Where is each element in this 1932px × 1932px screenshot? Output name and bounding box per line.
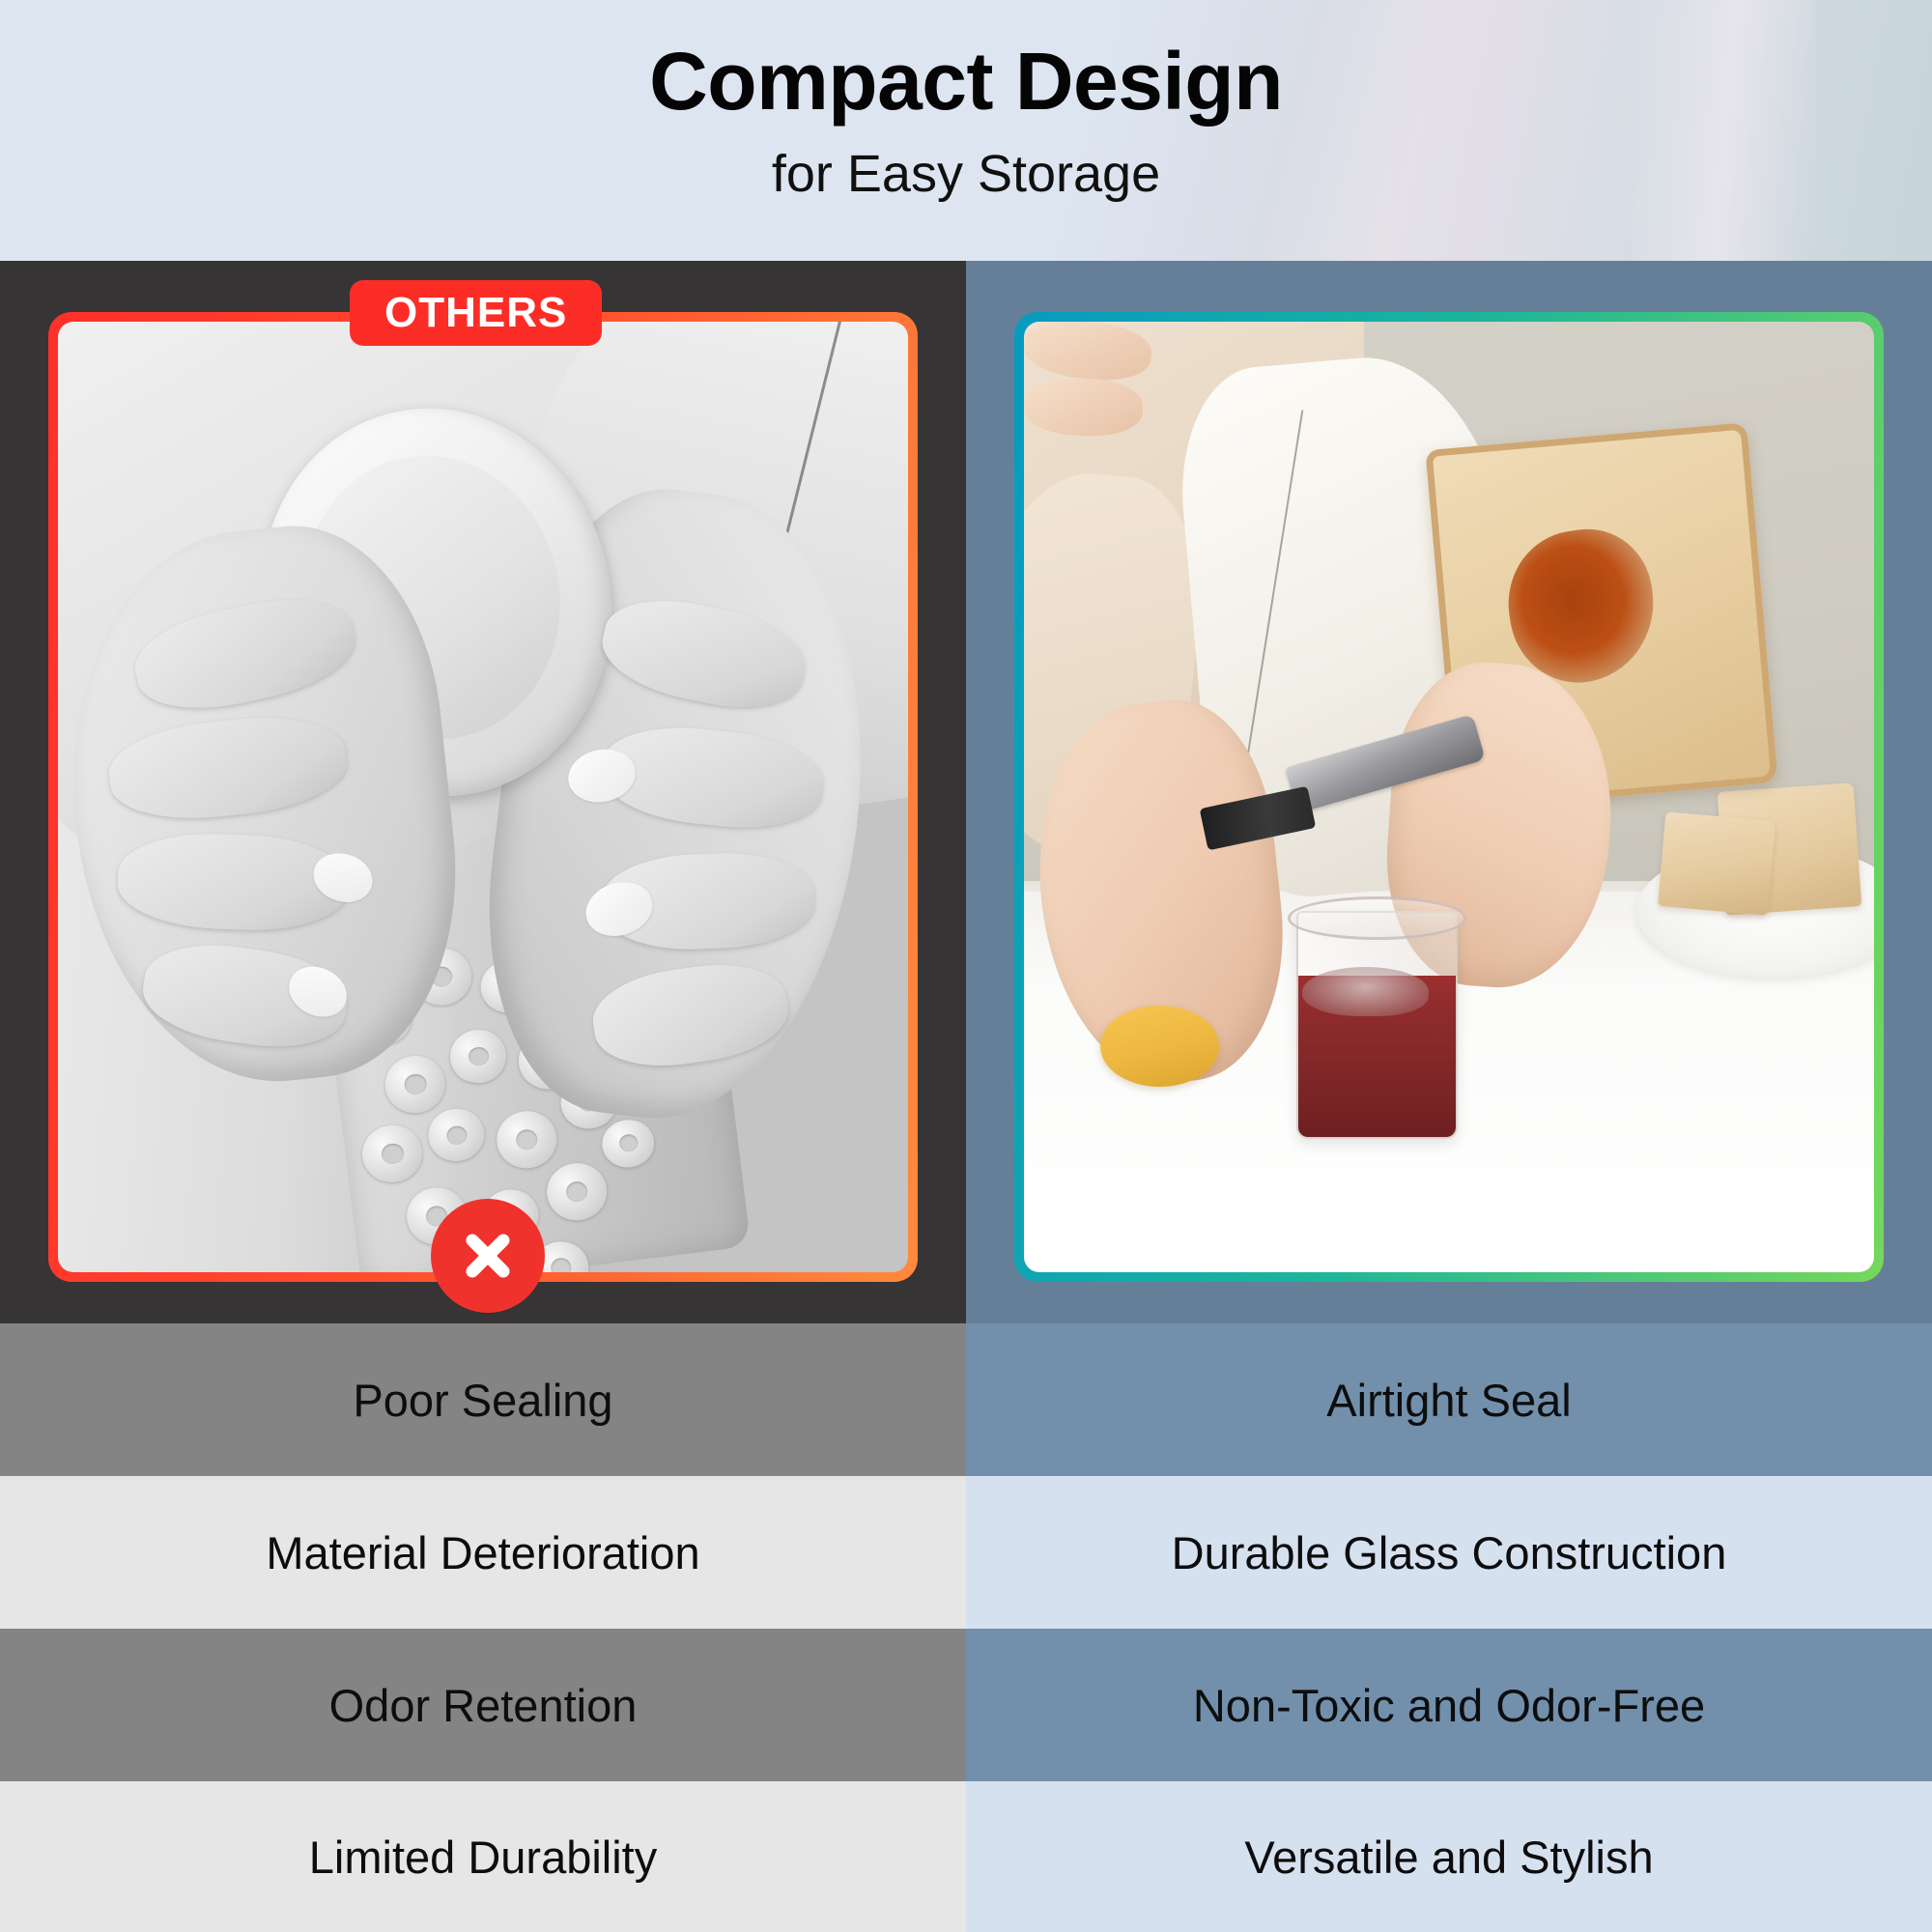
others-photo [58, 322, 908, 1272]
feature-ours-cell: Airtight Seal [966, 1323, 1932, 1476]
feature-rows: Poor Sealing Airtight Seal Material Dete… [0, 1323, 1932, 1932]
feature-others-cell: Material Deterioration [0, 1476, 966, 1629]
feature-row: Odor Retention Non-Toxic and Odor-Free [0, 1629, 1932, 1781]
feature-row: Limited Durability Versatile and Stylish [0, 1781, 1932, 1932]
header-banner: Compact Design for Easy Storage [0, 0, 1932, 261]
feature-ours-cell: Durable Glass Construction [966, 1476, 1932, 1629]
feature-row: Poor Sealing Airtight Seal [0, 1323, 1932, 1476]
feature-others-cell: Poor Sealing [0, 1323, 966, 1476]
feature-ours-cell: Versatile and Stylish [966, 1781, 1932, 1932]
feature-row: Material Deterioration Durable Glass Con… [0, 1476, 1932, 1629]
ours-panel: OURS [966, 261, 1932, 1323]
others-photo-frame [48, 312, 918, 1282]
others-badge: OTHERS [350, 280, 602, 346]
ours-photo-illustration [1024, 322, 1874, 1272]
feature-ours-cell: Non-Toxic and Odor-Free [966, 1629, 1932, 1781]
others-photo-illustration [58, 322, 908, 1272]
ours-photo [1024, 322, 1874, 1272]
yellow-jar-lid [1100, 1006, 1219, 1087]
feature-others-cell: Odor Retention [0, 1629, 966, 1781]
cross-icon [431, 1199, 545, 1313]
others-panel: OTHERS [0, 261, 966, 1323]
comparison-panels: OTHERS [0, 261, 1932, 1323]
page-subtitle: for Easy Storage [0, 147, 1932, 202]
ours-photo-frame [1014, 312, 1884, 1282]
glass-jam-jar [1296, 911, 1458, 1139]
page-title: Compact Design [0, 39, 1932, 124]
feature-others-cell: Limited Durability [0, 1781, 966, 1932]
